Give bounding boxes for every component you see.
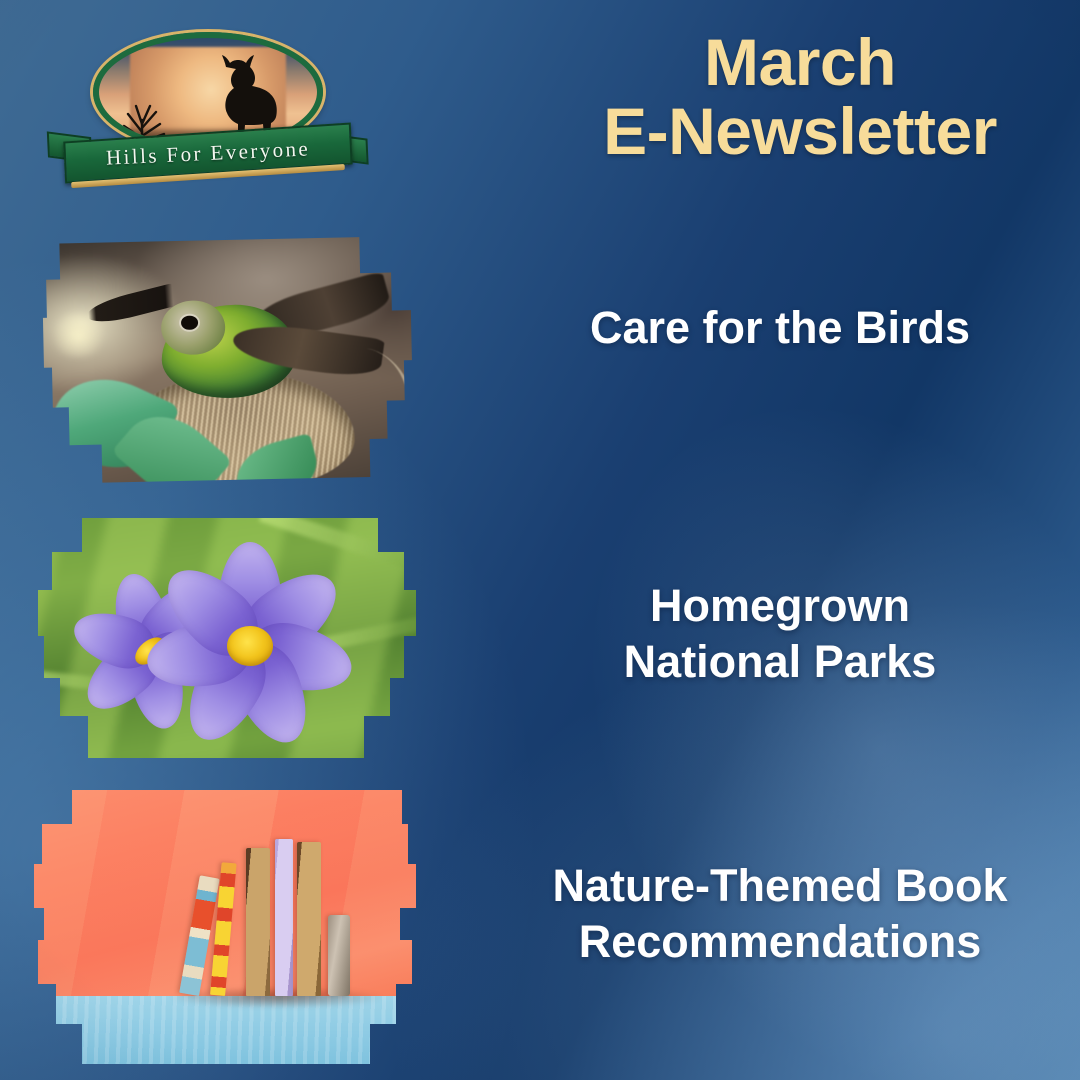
title-line-newsletter: E-Newsletter [540, 97, 1060, 166]
newsletter-poster: Hills For Everyone March E-Newsletter [0, 0, 1080, 1080]
section-image-care-for-the-birds[interactable] [38, 238, 413, 496]
section-image-nature-themed-book-recommendations[interactable] [30, 790, 422, 1080]
section-heading-nature-themed-book-recommendations: Nature-Themed Book Recommendations [495, 858, 1065, 971]
title-line-month: March [540, 28, 1060, 97]
section-image-homegrown-national-parks[interactable] [34, 518, 419, 773]
organization-logo[interactable]: Hills For Everyone [48, 30, 368, 200]
stack-of-books-image [30, 790, 422, 1080]
organization-name: Hills For Everyone [105, 136, 310, 170]
blue-eyed-grass-flower-image [34, 518, 419, 773]
heading-line: Nature-Themed Book [495, 858, 1065, 914]
section-heading-homegrown-national-parks: Homegrown National Parks [520, 578, 1040, 691]
heading-line: Homegrown [520, 578, 1040, 634]
flower-center [227, 626, 273, 666]
hummingbird-in-nest-image [35, 234, 415, 500]
heading-line: Care for the Birds [520, 300, 1040, 356]
book-upright-tan-2 [297, 842, 321, 996]
page-title: March E-Newsletter [540, 28, 1060, 167]
book-upright-lavender [275, 839, 293, 996]
section-heading-care-for-the-birds: Care for the Birds [520, 300, 1040, 356]
heading-line: Recommendations [495, 914, 1065, 970]
logo-ribbon-banner: Hills For Everyone [47, 119, 369, 189]
book-upright-tan-1 [246, 848, 270, 996]
blue-table-surface [30, 996, 422, 1080]
stone-bookend [328, 915, 350, 996]
heading-line: National Parks [520, 634, 1040, 690]
